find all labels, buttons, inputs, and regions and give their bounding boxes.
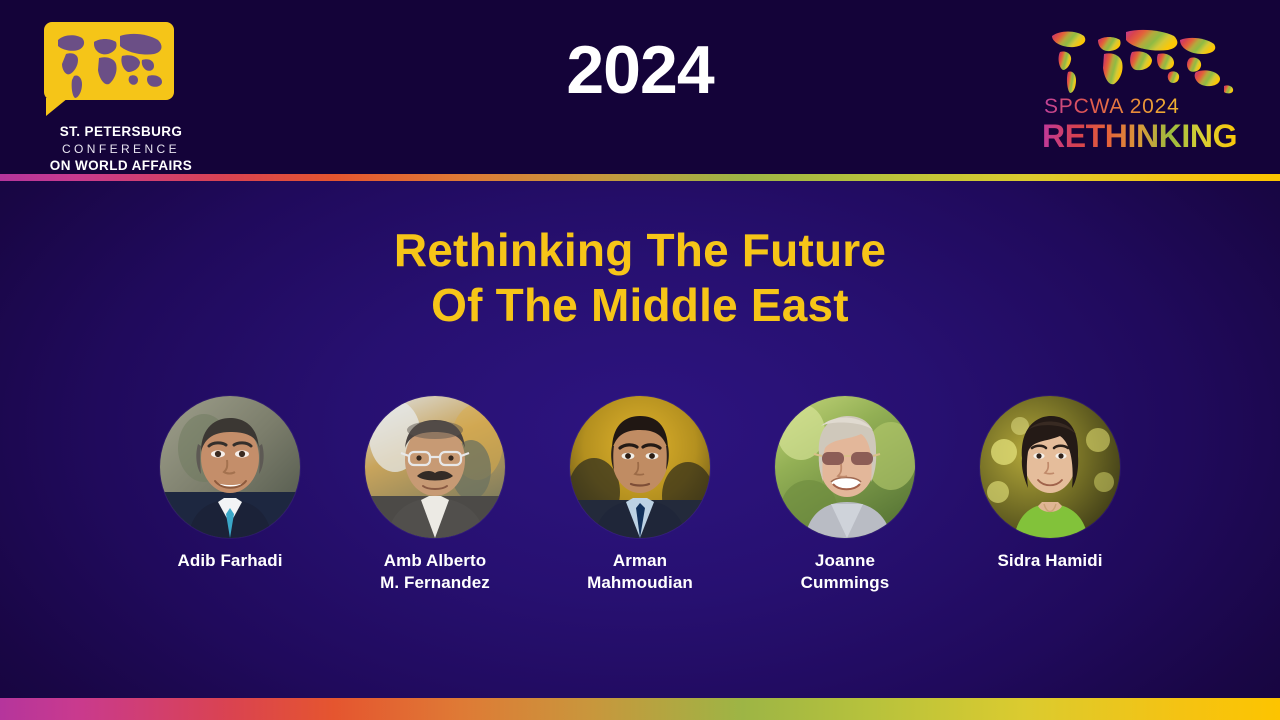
spcwa-logo[interactable]: ST. PETERSBURG CONFERENCE ON WORLD AFFAI… [36, 22, 206, 162]
rethinking-logo-line-1: SPCWA 2024 [1044, 96, 1180, 117]
list-item[interactable]: Adib Farhadi [140, 396, 320, 572]
rethinking-logo-line-2: RETHINKING [1042, 120, 1237, 152]
list-item[interactable]: Sidra Hamidi [960, 396, 1140, 572]
list-item-label: Joanne Cummings [801, 550, 890, 595]
list-item-label: Sidra Hamidi [997, 550, 1102, 572]
footer-gradient-bar [0, 698, 1280, 720]
avatar [570, 396, 710, 538]
title-line-1: Rethinking The Future [0, 223, 1280, 278]
page-title: Rethinking The Future Of The Middle East [0, 223, 1280, 333]
list-item-label: Adib Farhadi [177, 550, 282, 572]
presentation-slide: Rethinking The Future Of The Middle East [0, 0, 1280, 720]
list-item[interactable]: Arman Mahmoudian [550, 396, 730, 595]
title-line-2: Of The Middle East [0, 278, 1280, 333]
speaker-list: Adib Farhadi [140, 396, 1140, 595]
spcwa-logo-text: ST. PETERSBURG CONFERENCE ON WORLD AFFAI… [38, 124, 204, 175]
world-map-speech-bubble-icon [44, 22, 174, 100]
gradient-world-map-icon [1044, 24, 1244, 94]
list-item-label: Amb Alberto M. Fernandez [380, 550, 490, 595]
logo-line-1: ST. PETERSBURG [38, 124, 204, 141]
list-item[interactable]: Joanne Cummings [755, 396, 935, 595]
avatar [160, 396, 300, 538]
logo-line-2: CONFERENCE [38, 141, 204, 158]
avatar [980, 396, 1120, 538]
slide-header: 2024 [0, 0, 1280, 174]
list-item-label: Arman Mahmoudian [587, 550, 693, 595]
avatar [775, 396, 915, 538]
slide-body: Rethinking The Future Of The Middle East [0, 181, 1280, 698]
logo-line-3: ON WORLD AFFAIRS [38, 158, 204, 175]
list-item[interactable]: Amb Alberto M. Fernandez [345, 396, 525, 595]
header-gradient-divider [0, 174, 1280, 181]
avatar [365, 396, 505, 538]
rethinking-logo[interactable]: SPCWA 2024 RETHINKING [1036, 24, 1246, 154]
